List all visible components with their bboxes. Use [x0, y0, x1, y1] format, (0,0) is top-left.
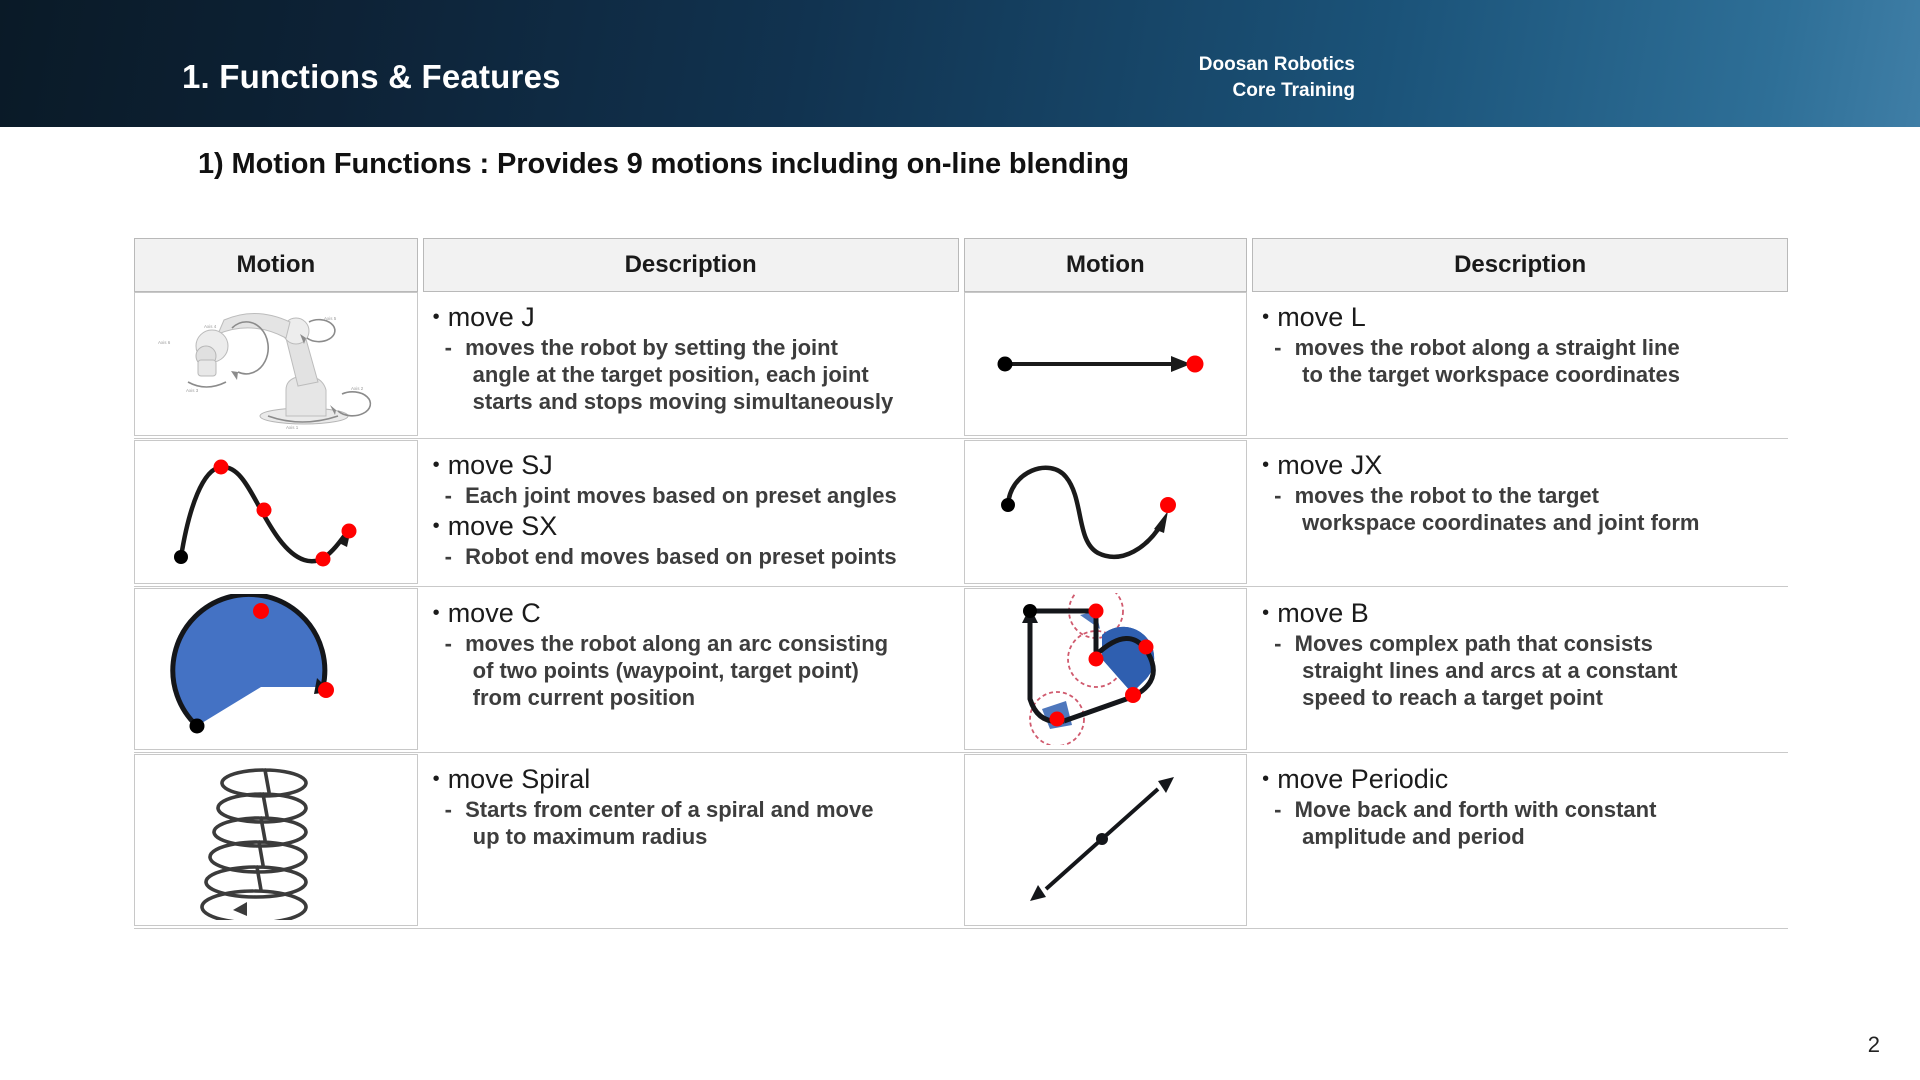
- motion-diagram-cell-move-c: [134, 588, 418, 750]
- desc-line: Starts from center of a spiral and move: [465, 797, 873, 822]
- description-cell-move-periodic: move Periodic Move back and forth with c…: [1252, 754, 1788, 926]
- description-cell-move-b: move B Moves complex path that consists …: [1252, 588, 1788, 750]
- table-row: move Spiral Starts from center of a spir…: [134, 754, 1788, 926]
- row-divider: [134, 586, 1788, 587]
- motion-name: move J: [433, 300, 955, 334]
- brand-block: Doosan Robotics Core Training: [1199, 52, 1355, 104]
- desc-line: of two points (waypoint, target point): [459, 657, 955, 684]
- desc-line: Robot end moves based on preset points: [465, 544, 897, 569]
- waypoint-marker: [1089, 604, 1104, 619]
- desc-line: moves the robot to the target: [1295, 483, 1599, 508]
- column-header-motion-2: Motion: [964, 238, 1248, 292]
- table-row: move SJ Each joint moves based on preset…: [134, 440, 1788, 584]
- motion-diagram-cell-move-sj-sx: [134, 440, 418, 584]
- svg-text:Axis 4: Axis 4: [204, 324, 217, 329]
- desc-line: Moves complex path that consists: [1295, 631, 1653, 656]
- motion-diagram-cell-move-spiral: [134, 754, 418, 926]
- column-header-description-1: Description: [423, 238, 959, 292]
- waypoint-marker: [253, 603, 269, 619]
- target-point-marker: [341, 524, 356, 539]
- target-point-marker: [1160, 497, 1176, 513]
- arrow-head-down: [1030, 885, 1046, 901]
- waypoint-marker: [315, 552, 330, 567]
- target-point-marker: [318, 682, 334, 698]
- desc-line: up to maximum radius: [459, 823, 955, 850]
- motion-table: Motion Description Motion Description: [134, 238, 1788, 926]
- desc-line: workspace coordinates and joint form: [1288, 509, 1784, 536]
- motion-description: moves the robot along an arc consisting …: [433, 630, 955, 711]
- desc-line: moves the robot along a straight line: [1295, 335, 1680, 360]
- table-row: move C moves the robot along an arc cons…: [134, 588, 1788, 750]
- waypoint-marker: [1050, 712, 1065, 727]
- page-title: 1. Functions & Features: [182, 58, 561, 96]
- waypoint-marker: [213, 460, 228, 475]
- motion-description: Moves complex path that consists straigh…: [1262, 630, 1784, 711]
- table-header-row: Motion Description Motion Description: [134, 238, 1788, 292]
- arrow-head-up: [1158, 777, 1174, 793]
- desc-line: starts and stops moving simultaneously: [459, 388, 955, 415]
- motion-diagram-cell-move-jx: [964, 440, 1248, 584]
- motion-description: Each joint moves based on preset angles: [433, 482, 955, 509]
- section-subtitle: 1) Motion Functions : Provides 9 motions…: [198, 148, 1129, 181]
- svg-text:Axis 3: Axis 3: [186, 388, 199, 393]
- motion-name: move Spiral: [433, 762, 955, 796]
- motion-name: move B: [1262, 596, 1784, 630]
- description-cell-move-spiral: move Spiral Starts from center of a spir…: [423, 754, 959, 926]
- motion-diagram-cell-move-j: Axis 5 Axis 2 Axis 4 Axis 6 Axis 3 Axis …: [134, 292, 418, 436]
- motion-diagram-cell-move-l: [964, 292, 1248, 436]
- motion-description: Robot end moves based on preset points: [433, 543, 955, 570]
- motion-name: move Periodic: [1262, 762, 1784, 796]
- midpoint-marker: [1096, 833, 1108, 845]
- row-divider: [134, 752, 1788, 753]
- motion-diagram-cell-move-periodic: [964, 754, 1248, 926]
- description-cell-move-c: move C moves the robot along an arc cons…: [423, 588, 959, 750]
- description-cell-move-sj-sx: move SJ Each joint moves based on preset…: [423, 440, 959, 584]
- motion-name: move C: [433, 596, 955, 630]
- motion-name: move SJ: [433, 448, 955, 482]
- desc-line: angle at the target position, each joint: [459, 361, 955, 388]
- spline-waypoints-diagram: [151, 447, 401, 577]
- start-point-marker: [174, 550, 188, 564]
- desc-line: speed to reach a target point: [1288, 684, 1784, 711]
- motion-description: moves the robot by setting the joint ang…: [433, 334, 955, 415]
- motion-description: moves the robot to the target workspace …: [1262, 482, 1784, 536]
- slide-header-bar: 1. Functions & Features Doosan Robotics …: [0, 0, 1920, 127]
- desc-line: moves the robot by setting the joint: [465, 335, 838, 360]
- straight-line-arrow-diagram: [985, 304, 1225, 424]
- desc-line: straight lines and arcs at a constant: [1288, 657, 1784, 684]
- motion-diagram-cell-move-b: [964, 588, 1248, 750]
- target-point-marker: [1187, 356, 1204, 373]
- desc-line: to the target workspace coordinates: [1288, 361, 1784, 388]
- double-arrow-diagonal-diagram: [980, 763, 1230, 918]
- slide: 1. Functions & Features Doosan Robotics …: [0, 0, 1920, 1080]
- row-divider: [134, 438, 1788, 439]
- motion-description: Starts from center of a spiral and move …: [433, 796, 955, 850]
- start-point-marker: [189, 719, 204, 734]
- column-header-description-2: Description: [1252, 238, 1788, 292]
- desc-line: Move back and forth with constant: [1295, 797, 1657, 822]
- motion-name: move SX: [433, 509, 955, 543]
- s-curve-arrow-diagram: [980, 447, 1230, 577]
- desc-line: amplitude and period: [1288, 823, 1784, 850]
- brand-line-1: Doosan Robotics: [1199, 52, 1355, 78]
- svg-text:Axis 1: Axis 1: [286, 425, 299, 430]
- svg-text:Axis 6: Axis 6: [158, 340, 171, 345]
- column-header-motion-1: Motion: [134, 238, 418, 292]
- brand-line-2: Core Training: [1199, 78, 1355, 104]
- motion-description: Move back and forth with constant amplit…: [1262, 796, 1784, 850]
- start-point-marker: [998, 357, 1013, 372]
- svg-text:Axis 2: Axis 2: [351, 386, 364, 391]
- start-point-marker: [1023, 604, 1037, 618]
- robot-arm-joints-diagram: Axis 5 Axis 2 Axis 4 Axis 6 Axis 3 Axis …: [146, 298, 406, 430]
- description-cell-move-j: move J moves the robot by setting the jo…: [423, 292, 959, 436]
- desc-line: from current position: [459, 684, 955, 711]
- svg-text:Axis 5: Axis 5: [324, 316, 337, 321]
- desc-line: moves the robot along an arc consisting: [465, 631, 888, 656]
- start-point-marker: [1001, 498, 1015, 512]
- waypoint-marker: [1139, 640, 1154, 655]
- waypoint-marker: [1089, 652, 1104, 667]
- page-number: 2: [1868, 1032, 1880, 1058]
- description-cell-move-jx: move JX moves the robot to the target wo…: [1252, 440, 1788, 584]
- spiral-coil-diagram: [151, 760, 401, 920]
- waypoint-marker: [256, 503, 271, 518]
- arc-wedge-diagram: [151, 594, 401, 744]
- motion-name: move L: [1262, 300, 1784, 334]
- row-divider: [134, 928, 1788, 929]
- target-point-marker: [1125, 687, 1141, 703]
- description-cell-move-l: move L moves the robot along a straight …: [1252, 292, 1788, 436]
- desc-line: Each joint moves based on preset angles: [465, 483, 897, 508]
- blend-path-diagram: [980, 593, 1230, 745]
- motion-name: move JX: [1262, 448, 1784, 482]
- table-row: Axis 5 Axis 2 Axis 4 Axis 6 Axis 3 Axis …: [134, 292, 1788, 436]
- motion-description: moves the robot along a straight line to…: [1262, 334, 1784, 388]
